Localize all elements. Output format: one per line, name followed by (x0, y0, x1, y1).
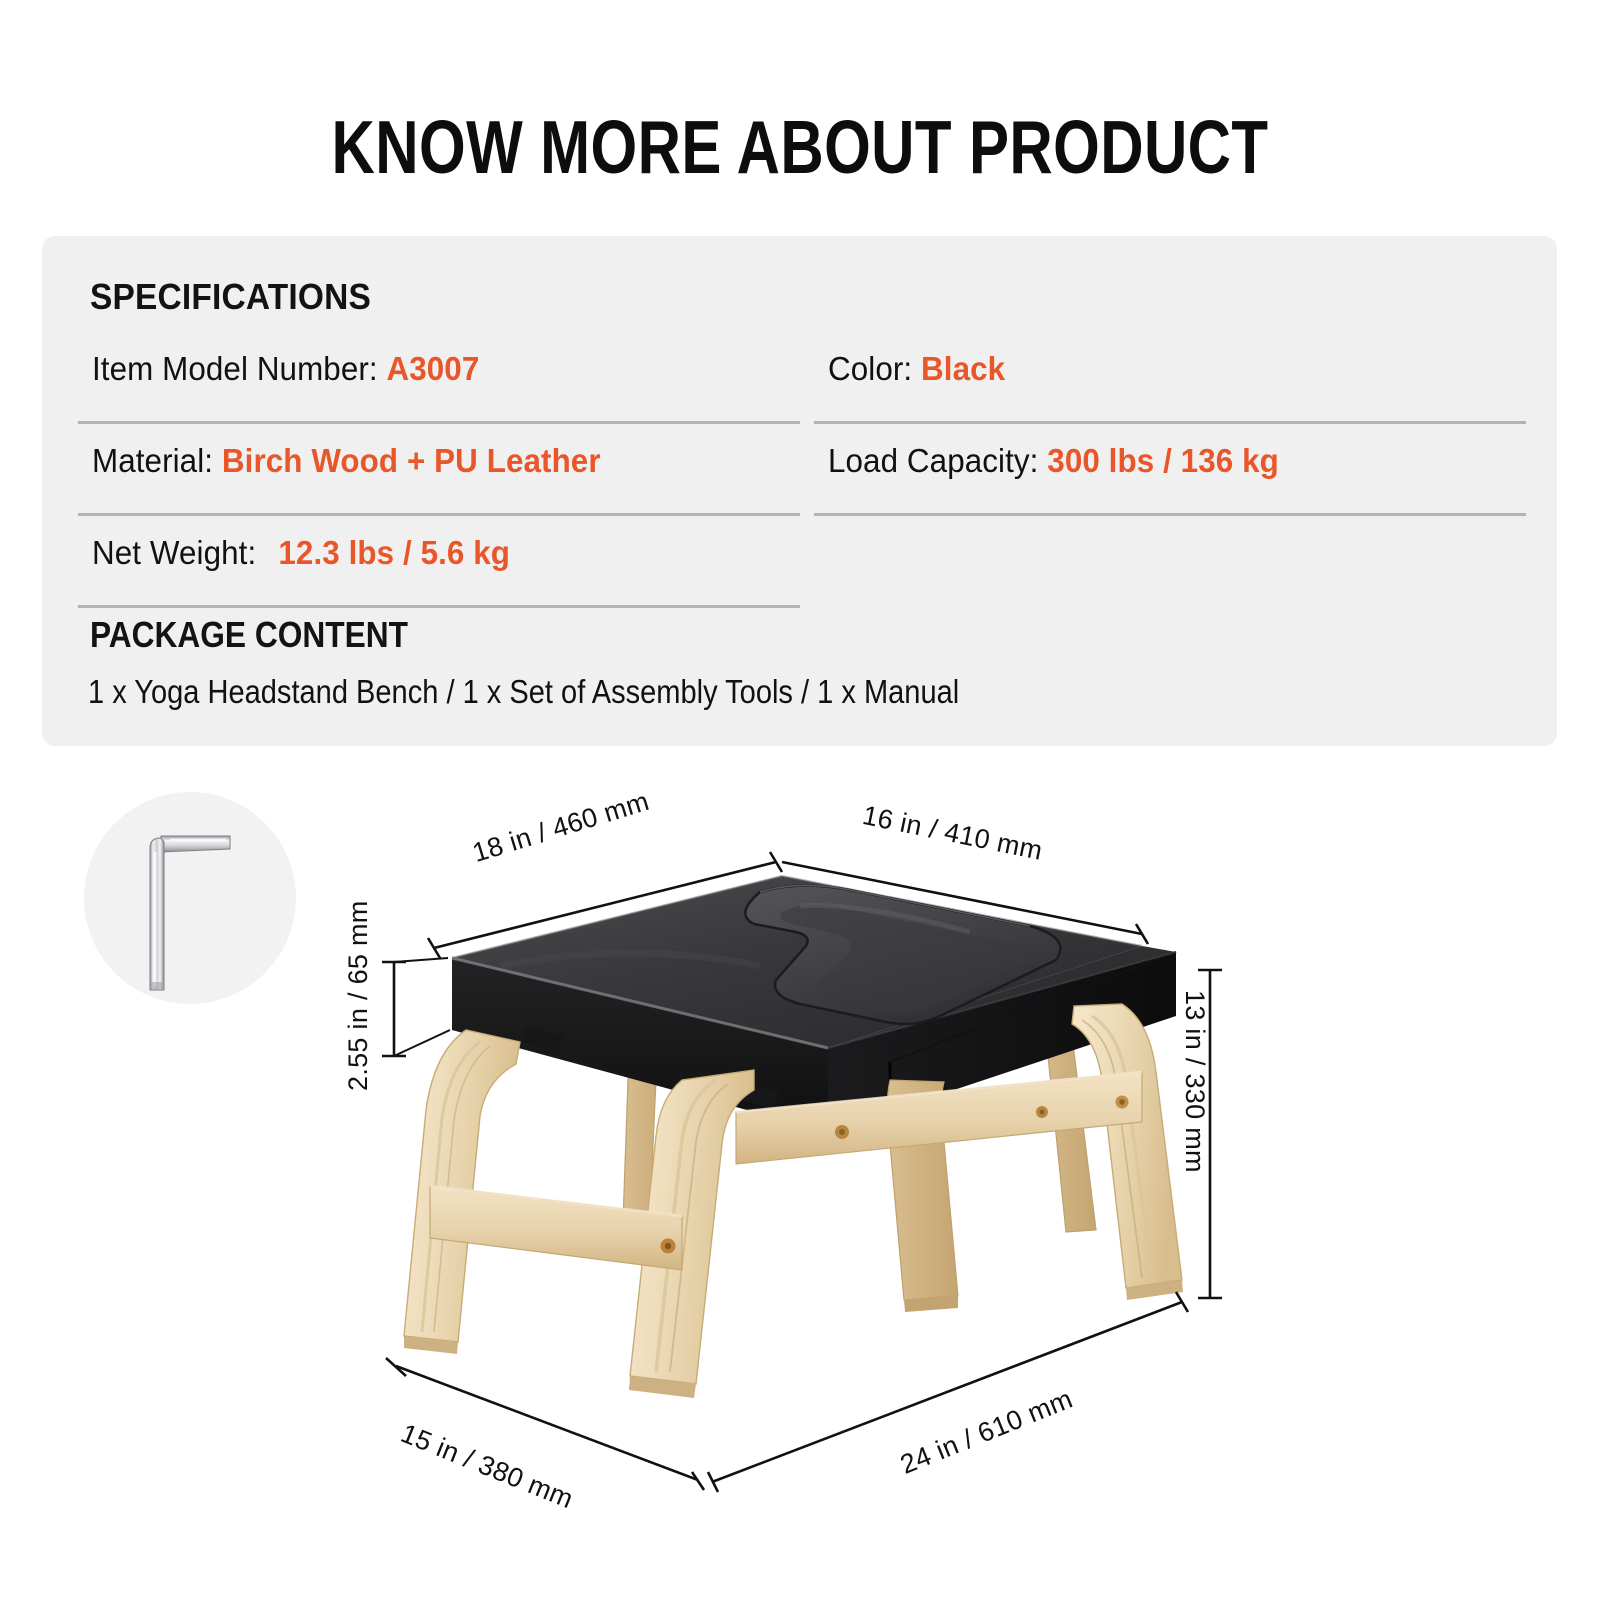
package-content-list: 1 x Yoga Headstand Bench / 1 x Set of As… (88, 673, 959, 711)
spec-row-color: Color: Black (814, 332, 1526, 424)
package-content-heading: PACKAGE CONTENT (90, 614, 408, 656)
dimension-label-cushion-thickness: 2.55 in / 65 mm (343, 900, 374, 1091)
spec-value-load-capacity: 300 lbs / 136 kg (1047, 442, 1279, 479)
spec-value-net-weight: 12.3 lbs / 5.6 kg (278, 534, 510, 571)
spec-label-material: Material: (92, 442, 213, 479)
spec-divider (78, 605, 800, 608)
spec-row-load-capacity: Load Capacity: 300 lbs / 136 kg (814, 424, 1526, 516)
allen-key-icon (84, 792, 296, 1004)
spec-value-material: Birch Wood + PU Leather (222, 442, 601, 479)
page-title: KNOW MORE ABOUT PRODUCT (160, 104, 1440, 190)
specifications-right-column: Color: Black Load Capacity: 300 lbs / 13… (814, 332, 1526, 516)
spec-label-load-capacity: Load Capacity: (828, 442, 1038, 479)
spec-label-net-weight: Net Weight: (92, 534, 256, 571)
spec-value-color: Black (921, 350, 1005, 387)
spec-label-color: Color: (828, 350, 912, 387)
spec-label-item-model-number: Item Model Number: (92, 350, 378, 387)
product-spec-page: KNOW MORE ABOUT PRODUCT SPECIFICATIONS I… (0, 0, 1600, 1600)
spec-row-material: Material: Birch Wood + PU Leather (78, 424, 800, 516)
specifications-panel: SPECIFICATIONS Item Model Number: A3007 … (42, 236, 1557, 746)
dimension-label-overall-height: 13 in / 330 mm (1179, 990, 1210, 1173)
leg-front-right (1072, 1004, 1183, 1300)
spec-row-item-model-number: Item Model Number: A3007 (78, 332, 800, 424)
spec-value-item-model-number: A3007 (387, 350, 480, 387)
specifications-left-column: Item Model Number: A3007 Material: Birch… (78, 332, 800, 608)
spec-divider (814, 513, 1526, 516)
specifications-heading: SPECIFICATIONS (90, 276, 371, 318)
spec-row-net-weight: Net Weight: 12.3 lbs / 5.6 kg (78, 516, 800, 608)
assembly-tool-badge (84, 792, 296, 1004)
